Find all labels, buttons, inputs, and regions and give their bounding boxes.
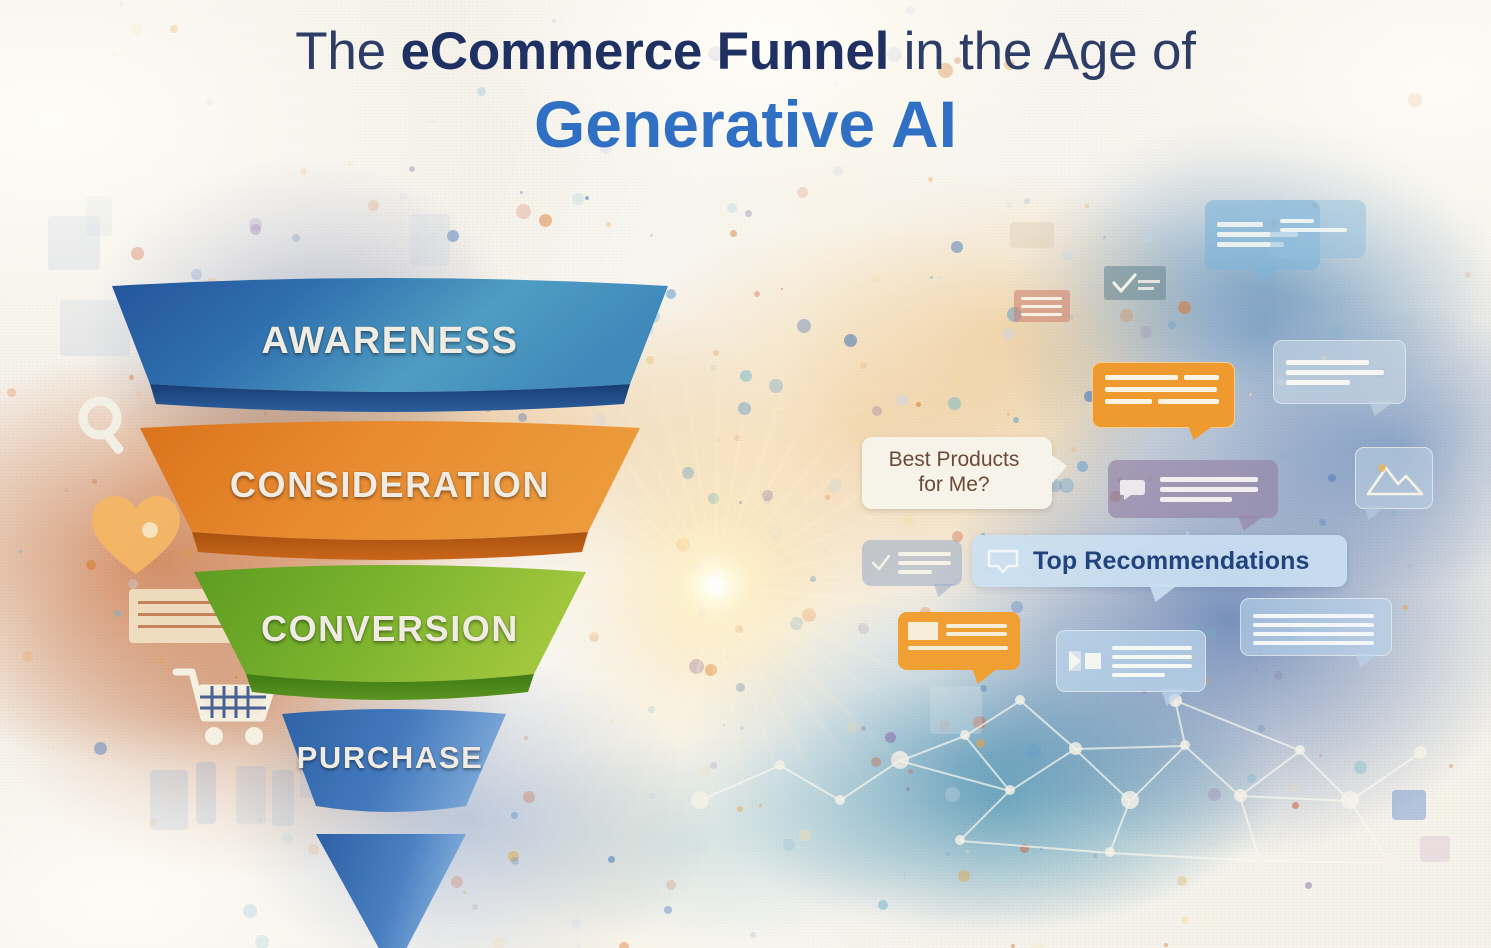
chat-bubble-purple[interactable] xyxy=(1108,460,1278,518)
funnel-tip xyxy=(110,834,670,948)
bubble-tail xyxy=(1364,506,1386,520)
bubble-tail xyxy=(1369,401,1395,416)
chat-bubble-media[interactable] xyxy=(1056,630,1206,692)
chat-bubble-lines-right[interactable] xyxy=(1240,598,1392,656)
top-recommendations-label: Top Recommendations xyxy=(1033,547,1309,576)
bubble-tail xyxy=(972,668,998,684)
chat-bubble-image[interactable] xyxy=(1355,447,1433,509)
chat-bubble-wide-topright[interactable] xyxy=(1270,200,1366,258)
image-icon xyxy=(1356,448,1434,510)
bubble-tail xyxy=(934,584,954,597)
thumbnail-icon xyxy=(908,622,938,640)
title-line-2: Generative AI xyxy=(0,86,1491,162)
bubble-tail xyxy=(1238,516,1264,531)
bubble-tail xyxy=(1161,689,1187,706)
bubble-tail xyxy=(1149,584,1179,602)
best-products-line-2: for Me? xyxy=(862,473,1046,498)
chat-bubble-orange-bottom[interactable] xyxy=(898,612,1020,670)
title-ecommerce-funnel: eCommerce Funnel xyxy=(401,22,890,81)
bubble-tail xyxy=(1188,425,1214,440)
title-line-1: The eCommerce Funnel in the Age of xyxy=(0,22,1491,82)
chat-icon xyxy=(1120,476,1150,502)
title-the: The xyxy=(295,22,400,81)
funnel-stage-consideration[interactable]: CONSIDERATION xyxy=(110,420,670,570)
title-in-the-age-of: in the Age of xyxy=(889,22,1196,81)
checkmark-icon xyxy=(1104,266,1166,300)
bubble-tail xyxy=(1254,268,1280,283)
chat-bubble-red-small[interactable] xyxy=(1014,290,1070,322)
chat-bubble-grey-right[interactable] xyxy=(1273,340,1406,404)
chat-bubble-top-recommendations[interactable]: Top Recommendations xyxy=(972,535,1347,587)
funnel-stage-conversion[interactable]: CONVERSION xyxy=(110,564,670,712)
funnel-stage-purchase[interactable]: PURCHASE xyxy=(110,708,670,828)
checkmark-icon xyxy=(871,554,891,572)
bubble-tail xyxy=(1049,453,1067,487)
title-generative-ai: Generative AI xyxy=(534,87,957,161)
chat-bubble-check-left[interactable] xyxy=(862,540,962,586)
funnel-stage-awareness[interactable]: AWARENESS xyxy=(110,278,670,420)
chat-icon xyxy=(986,546,1020,576)
bubble-tail xyxy=(1355,653,1379,668)
chat-bubble-check-small[interactable] xyxy=(1104,266,1166,300)
media-icon xyxy=(1067,647,1103,675)
best-products-line-1: Best Products xyxy=(862,448,1046,473)
page-title: The eCommerce Funnel in the Age of Gener… xyxy=(0,22,1491,162)
infographic-canvas: The eCommerce Funnel in the Age of Gener… xyxy=(0,0,1491,948)
chat-bubble-best-products[interactable]: Best Products for Me? xyxy=(862,437,1052,509)
ecommerce-funnel: AWARENESS CONSIDERATION xyxy=(110,278,670,878)
chat-bubble-orange-large[interactable] xyxy=(1092,362,1235,428)
